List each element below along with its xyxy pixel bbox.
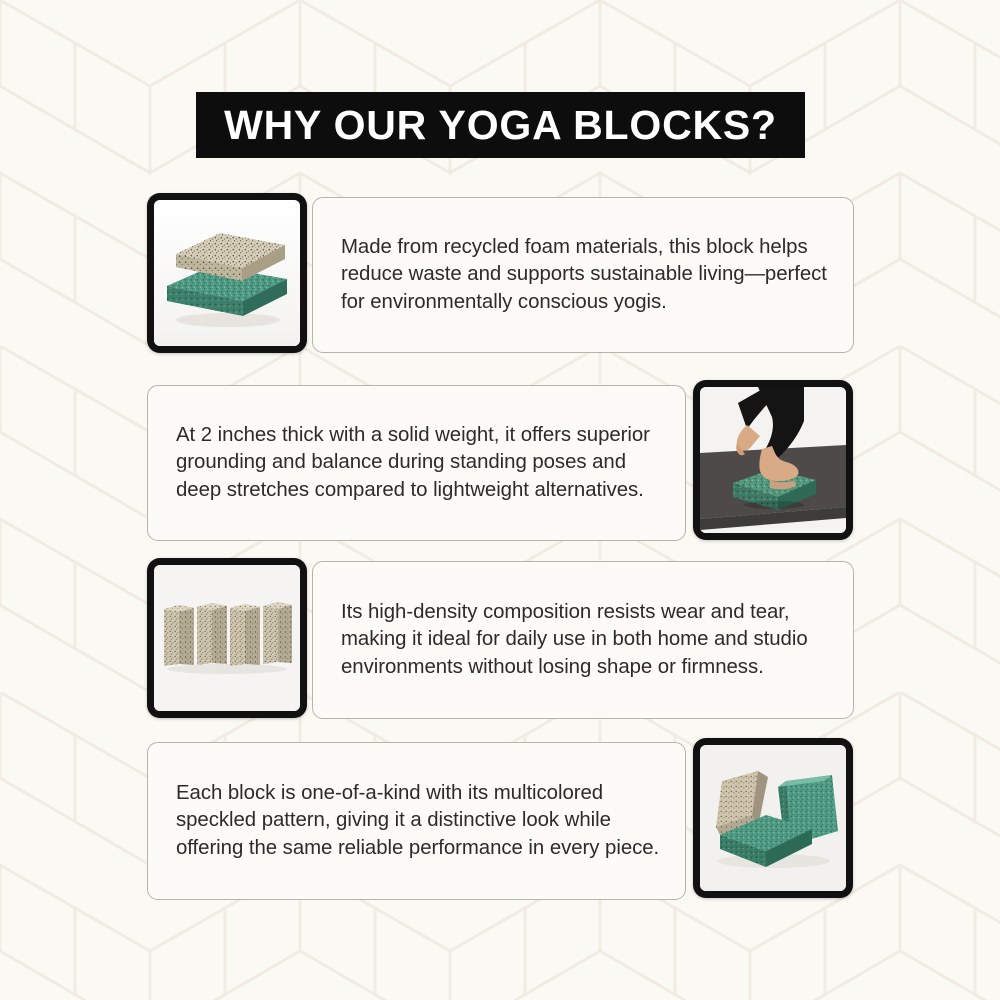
feature-row-unique-speckled-pattern: Each block is one-of-a-kind with its mul…	[147, 738, 853, 900]
page-title: WHY OUR YOGA BLOCKS?	[224, 105, 777, 146]
page-title-banner: WHY OUR YOGA BLOCKS?	[196, 92, 805, 158]
feature-row-thickness-grounding: At 2 inches thick with a solid weight, i…	[147, 380, 853, 541]
foot-balancing-illustration	[700, 387, 846, 533]
row-of-standing-blocks-photo	[147, 558, 307, 718]
feature-text-card-2: At 2 inches thick with a solid weight, i…	[147, 385, 686, 541]
photo-inner-3	[154, 565, 300, 711]
angled-blocks-illustration	[700, 745, 846, 891]
feature-text-1: Made from recycled foam materials, this …	[313, 234, 853, 316]
photo-inner-1	[154, 200, 300, 346]
feature-text-card-1: Made from recycled foam materials, this …	[312, 197, 854, 353]
photo-inner-4	[700, 745, 846, 891]
stacked-blocks-illustration	[154, 200, 300, 346]
feature-text-card-3: Its high-density composition resists wea…	[312, 561, 854, 719]
foot-on-block-photo	[693, 380, 853, 540]
feature-row-recycled-foam: Made from recycled foam materials, this …	[147, 193, 854, 353]
feature-row-high-density-durability: Its high-density composition resists wea…	[147, 558, 854, 719]
angled-blocks-photo	[693, 738, 853, 898]
feature-text-card-4: Each block is one-of-a-kind with its mul…	[147, 742, 686, 900]
infographic-poster: WHY OUR YOGA BLOCKS?	[0, 0, 1000, 1000]
standing-blocks-row-illustration	[154, 565, 300, 711]
feature-text-4: Each block is one-of-a-kind with its mul…	[148, 780, 685, 862]
feature-text-3: Its high-density composition resists wea…	[313, 599, 853, 681]
stacked-yoga-blocks-photo	[147, 193, 307, 353]
feature-text-2: At 2 inches thick with a solid weight, i…	[148, 422, 685, 504]
photo-inner-2	[700, 387, 846, 533]
